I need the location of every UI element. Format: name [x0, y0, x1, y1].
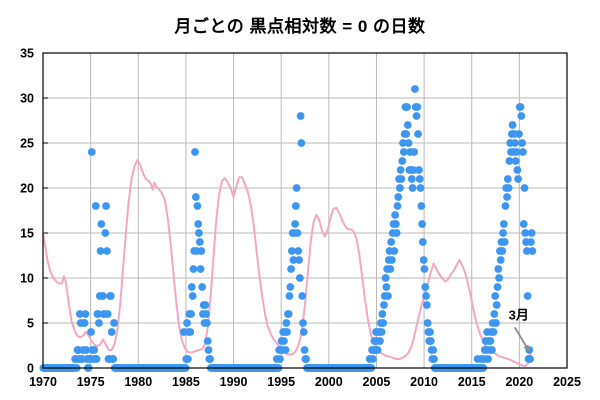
data-point: [302, 355, 310, 363]
data-point: [517, 112, 525, 120]
data-point: [297, 112, 305, 120]
data-point: [397, 166, 405, 174]
data-point: [411, 85, 419, 93]
data-point: [282, 346, 290, 354]
data-point: [82, 310, 90, 318]
data-point: [296, 274, 304, 282]
data-point: [398, 157, 406, 165]
x-tick-label: 1975: [77, 375, 105, 389]
data-point: [410, 148, 418, 156]
data-point: [388, 256, 396, 264]
data-point: [287, 265, 295, 273]
data-point: [414, 130, 422, 138]
data-point: [295, 256, 303, 264]
data-point: [379, 319, 387, 327]
data-point: [429, 346, 437, 354]
data-point: [97, 220, 105, 228]
data-point: [283, 328, 291, 336]
data-point: [93, 355, 101, 363]
data-point: [291, 220, 299, 228]
y-tick-label: 20: [20, 182, 34, 196]
data-point: [276, 355, 284, 363]
data-point: [426, 328, 434, 336]
data-point: [376, 337, 384, 345]
data-point: [183, 319, 191, 327]
data-point: [427, 337, 435, 345]
data-point: [189, 292, 197, 300]
data-point: [202, 310, 210, 318]
data-point: [529, 247, 537, 255]
data-point: [495, 274, 503, 282]
data-point: [107, 292, 115, 300]
data-point: [430, 355, 438, 363]
data-point: [393, 229, 401, 237]
data-point: [405, 139, 413, 147]
scatter-plot-svg: 05101520253035 1970197519801985199019952…: [0, 0, 600, 400]
y-axis-tick-labels: 05101520253035: [20, 47, 34, 376]
data-point: [390, 247, 398, 255]
data-point: [501, 238, 509, 246]
data-point: [104, 310, 112, 318]
x-tick-label: 1970: [29, 375, 57, 389]
data-point: [87, 328, 95, 336]
data-point: [492, 319, 500, 327]
data-point: [294, 229, 302, 237]
x-tick-label: 2015: [458, 375, 486, 389]
data-point: [503, 193, 511, 201]
data-point: [490, 328, 498, 336]
data-point: [95, 319, 103, 327]
data-point: [394, 193, 402, 201]
data-point: [499, 229, 507, 237]
data-points-group: [39, 85, 536, 372]
data-point: [488, 346, 496, 354]
data-point: [196, 238, 204, 246]
data-point: [280, 337, 288, 345]
data-point: [188, 283, 196, 291]
data-point: [491, 292, 499, 300]
data-point: [299, 319, 307, 327]
data-point: [487, 337, 495, 345]
data-point: [502, 202, 510, 210]
data-point: [391, 211, 399, 219]
x-axis-tick-labels: 1970197519801985199019952000200520102015…: [29, 375, 581, 389]
data-point: [186, 328, 194, 336]
y-tick-label: 35: [20, 47, 34, 61]
x-tick-label: 1980: [124, 375, 152, 389]
data-point: [490, 310, 498, 318]
data-point: [417, 202, 425, 210]
data-point: [298, 292, 306, 300]
data-point: [88, 148, 96, 156]
data-point: [521, 184, 529, 192]
data-point: [408, 175, 416, 183]
x-tick-label: 1985: [172, 375, 200, 389]
data-point: [92, 202, 100, 210]
data-point: [286, 283, 294, 291]
data-point: [514, 175, 522, 183]
data-point: [500, 220, 508, 228]
data-point: [398, 175, 406, 183]
data-point: [206, 355, 214, 363]
data-point: [402, 130, 410, 138]
data-point: [90, 346, 98, 354]
data-point: [184, 355, 192, 363]
x-tick-label: 2000: [315, 375, 343, 389]
data-point: [282, 319, 290, 327]
data-point: [204, 337, 212, 345]
data-point: [403, 103, 411, 111]
data-point: [421, 265, 429, 273]
data-point: [99, 292, 107, 300]
data-point: [517, 103, 525, 111]
data-point: [421, 283, 429, 291]
data-point: [197, 265, 205, 273]
data-point: [396, 184, 404, 192]
data-point: [300, 328, 308, 336]
data-point: [187, 310, 195, 318]
data-point: [515, 130, 523, 138]
data-point: [424, 319, 432, 327]
data-point: [497, 256, 505, 264]
data-point: [285, 310, 293, 318]
data-point: [198, 283, 206, 291]
data-point: [518, 139, 526, 147]
y-axis-tick-marks: [43, 53, 48, 323]
data-point: [286, 292, 294, 300]
data-point: [108, 328, 116, 336]
data-point: [392, 220, 400, 228]
data-point: [110, 319, 118, 327]
data-point: [404, 121, 412, 129]
x-tick-label: 2020: [505, 375, 533, 389]
data-point: [190, 265, 198, 273]
data-point: [420, 256, 428, 264]
data-point: [194, 220, 202, 228]
y-tick-label: 25: [20, 137, 34, 151]
data-point: [494, 283, 502, 291]
y-tick-label: 5: [27, 317, 34, 331]
data-point: [512, 157, 520, 165]
data-point: [109, 355, 117, 363]
data-point: [101, 229, 109, 237]
data-point: [394, 202, 402, 210]
data-point: [102, 202, 110, 210]
x-tick-label: 2005: [363, 375, 391, 389]
data-point: [511, 139, 519, 147]
y-tick-label: 10: [20, 272, 34, 286]
data-point: [203, 319, 211, 327]
data-point: [419, 238, 427, 246]
data-point: [194, 202, 202, 210]
data-point: [294, 247, 302, 255]
data-point: [201, 301, 209, 309]
data-point: [418, 220, 426, 228]
data-point: [526, 355, 534, 363]
x-tick-label: 2025: [553, 375, 581, 389]
data-point: [374, 346, 382, 354]
data-point: [387, 238, 395, 246]
data-point: [513, 166, 521, 174]
data-point: [484, 355, 492, 363]
data-point: [380, 301, 388, 309]
data-point: [413, 112, 421, 120]
x-tick-label: 1995: [267, 375, 295, 389]
data-point: [293, 184, 301, 192]
data-point: [415, 166, 423, 174]
y-tick-label: 0: [27, 362, 34, 376]
data-point: [205, 346, 213, 354]
data-point: [416, 175, 424, 183]
data-point: [384, 292, 392, 300]
data-point: [195, 229, 203, 237]
data-point: [528, 229, 536, 237]
data-point: [413, 103, 421, 111]
data-point: [382, 283, 390, 291]
data-point: [386, 265, 394, 273]
data-point: [103, 247, 111, 255]
data-point: [301, 346, 309, 354]
data-point: [197, 247, 205, 255]
annotation-label: 3月: [509, 307, 529, 322]
data-point: [527, 238, 535, 246]
chart-container: 月ごとの 黒点相対数 = 0 の日数 05101520253035 197019…: [0, 0, 600, 400]
data-point: [409, 184, 417, 192]
data-point: [524, 292, 532, 300]
x-tick-label: 2010: [410, 375, 438, 389]
data-point: [423, 301, 431, 309]
data-point: [504, 175, 512, 183]
data-point: [369, 355, 377, 363]
data-point: [417, 184, 425, 192]
x-tick-label: 1990: [220, 375, 248, 389]
data-point: [292, 202, 300, 210]
data-point: [378, 328, 386, 336]
data-point: [192, 193, 200, 201]
data-point: [498, 247, 506, 255]
data-point: [505, 184, 513, 192]
data-point: [519, 148, 527, 156]
data-point: [297, 139, 305, 147]
data-point: [520, 220, 528, 228]
data-point: [81, 319, 89, 327]
data-point: [191, 148, 199, 156]
data-point: [422, 292, 430, 300]
data-point: [509, 121, 517, 129]
data-point: [378, 310, 386, 318]
data-point: [494, 265, 502, 273]
y-tick-label: 15: [20, 227, 34, 241]
data-point: [493, 301, 501, 309]
y-tick-label: 30: [20, 92, 34, 106]
data-point: [382, 274, 390, 282]
